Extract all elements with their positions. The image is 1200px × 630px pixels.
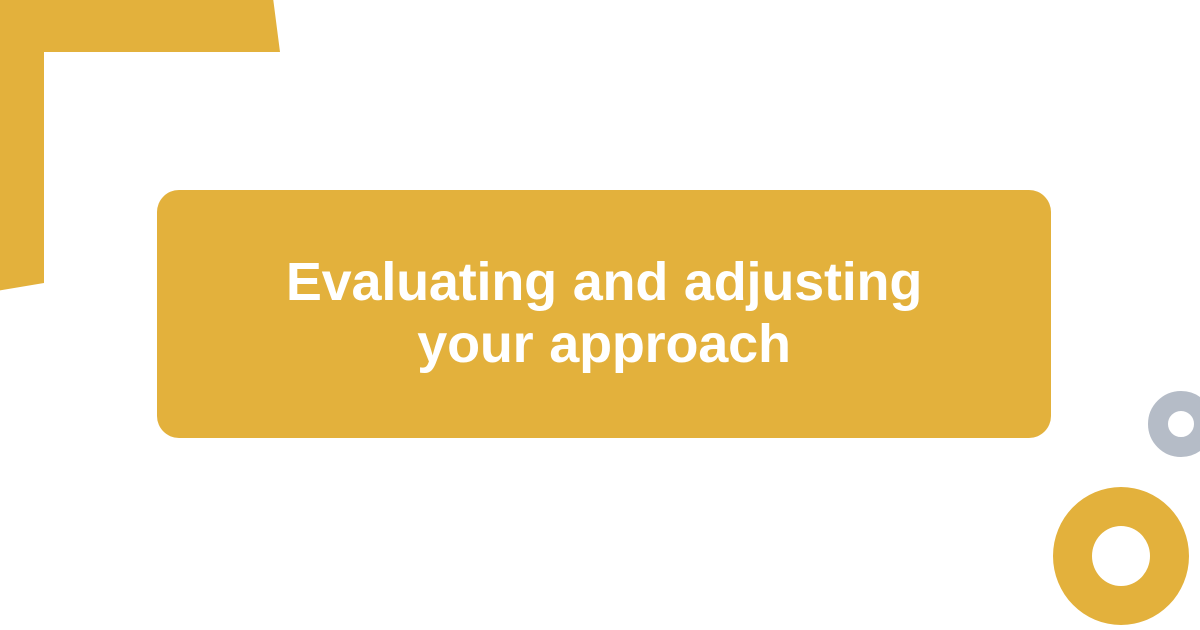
gray-ring-icon xyxy=(1148,391,1200,457)
yellow-ring-icon xyxy=(1053,487,1189,625)
social-card-canvas: Evaluating and adjusting your approach xyxy=(0,0,1200,630)
headline-card: Evaluating and adjusting your approach xyxy=(157,190,1051,438)
page-title: Evaluating and adjusting your approach xyxy=(284,252,924,375)
